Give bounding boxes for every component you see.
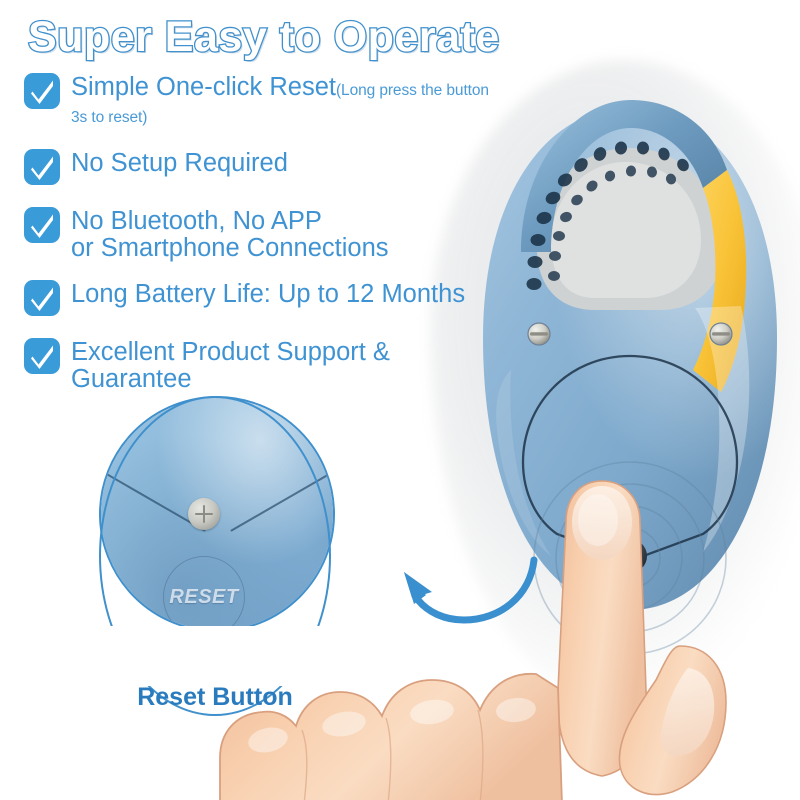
check-icon <box>24 73 60 109</box>
seam-line-right <box>230 464 335 532</box>
list-item: Excellent Product Support & Guarantee <box>24 337 494 392</box>
list-item: Long Battery Life: Up to 12 Months <box>24 279 494 316</box>
infographic-canvas: Super Easy to Operate Simple One-click R… <box>0 0 800 800</box>
list-item-label: No Bluetooth, No APP or Smartphone Conne… <box>71 206 389 261</box>
reset-button-detail-circle: RESET <box>99 396 335 632</box>
list-item-label: Long Battery Life: Up to 12 Months <box>71 279 465 308</box>
check-icon <box>24 338 60 374</box>
feature-list: Simple One-click Reset(Long press the bu… <box>24 72 494 413</box>
reset-button-emboss: RESET <box>163 556 245 632</box>
list-item-label: Simple One-click Reset <box>71 73 336 101</box>
reset-button-text: RESET <box>169 586 238 609</box>
list-item: No Bluetooth, No APP or Smartphone Conne… <box>24 206 494 261</box>
detail-caption: Reset Button <box>99 683 331 712</box>
curved-arrow-icon <box>392 548 542 638</box>
list-item: Simple One-click Reset(Long press the bu… <box>24 72 494 127</box>
screw-icon <box>188 498 220 530</box>
list-item: No Setup Required <box>24 148 494 185</box>
list-item-label: Excellent Product Support & Guarantee <box>71 337 494 392</box>
detail-circle-mask <box>96 626 336 686</box>
device-back-shell: RESET <box>99 396 335 632</box>
page-title: Super Easy to Operate <box>28 13 500 62</box>
check-icon <box>24 207 60 243</box>
check-icon <box>24 149 60 185</box>
list-item-label: No Setup Required <box>71 148 288 177</box>
list-item-label-wrap: Simple One-click Reset(Long press the bu… <box>71 72 494 127</box>
check-icon <box>24 280 60 316</box>
